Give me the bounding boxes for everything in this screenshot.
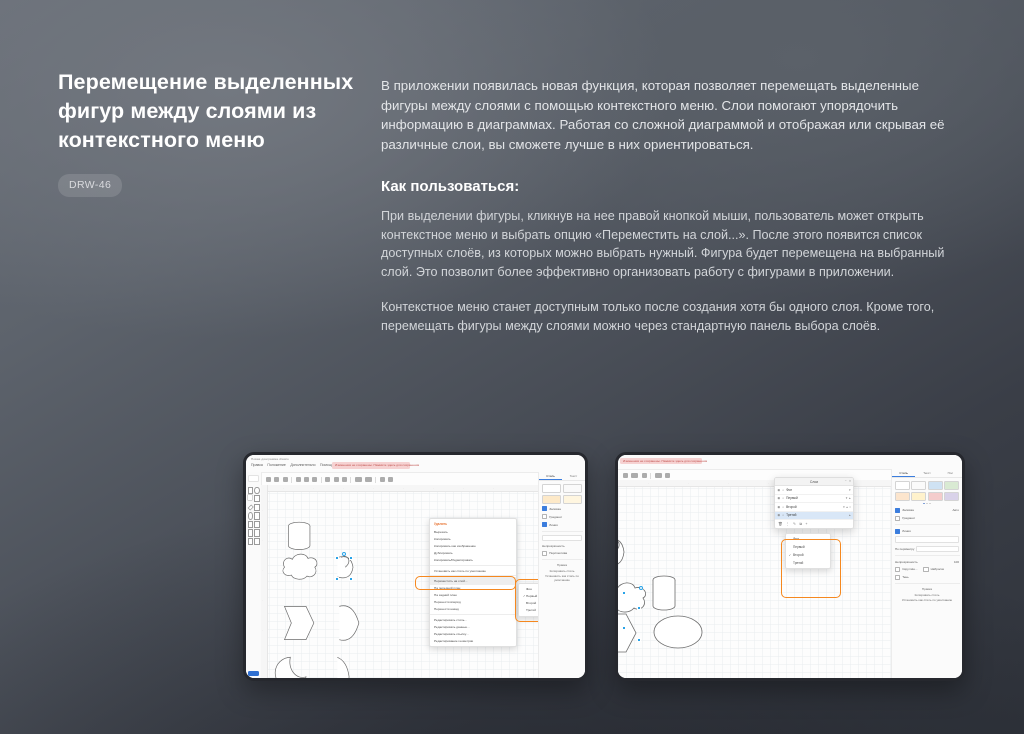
toolbar-divider-3 [350, 477, 351, 483]
line-checkbox[interactable] [542, 522, 547, 527]
context-menu-item[interactable]: Копировать как изображение [430, 542, 516, 549]
perspective-checkbox[interactable] [542, 551, 547, 556]
menu-item-dopolnitelno[interactable]: Дополнительно [290, 463, 315, 467]
context-menu-item[interactable]: Дублировать [430, 549, 516, 556]
context-menu-item[interactable]: На задний план [430, 592, 516, 599]
back-icon[interactable] [623, 473, 628, 478]
tab-style[interactable]: Стиль [892, 469, 915, 477]
page-root: Перемещение выделенных фигур между слоям… [0, 0, 1024, 734]
panel-divider [542, 531, 583, 532]
right-rounded-row[interactable]: Скруглён... Набросок [892, 565, 962, 573]
shape-list[interactable] [246, 485, 261, 547]
dropdown-item[interactable]: Первый [786, 543, 830, 551]
zoom-out-icon[interactable] [266, 477, 271, 482]
chevron-down-icon-2[interactable] [665, 473, 670, 478]
line-label: Линия [549, 523, 558, 527]
right-line-style-row[interactable] [892, 535, 962, 544]
panel-divider [895, 524, 960, 525]
dropdown-item-checked[interactable]: ✓Второй [786, 551, 830, 559]
swatch-6[interactable] [928, 492, 943, 501]
selection-handle[interactable] [622, 626, 626, 630]
line-style-field[interactable] [895, 536, 959, 542]
shape-ellipse[interactable] [254, 487, 259, 494]
fill-color-icon[interactable] [325, 477, 330, 482]
context-menu-item[interactable]: Установить как стиль по умолчанию [430, 567, 516, 574]
perimeter-field[interactable] [916, 546, 959, 552]
grid-icon[interactable] [655, 473, 662, 478]
context-menu-item[interactable]: Редактировать стиль... [430, 616, 516, 623]
waypoints-icon[interactable] [365, 477, 372, 482]
left-fill-row[interactable]: Заливка [539, 505, 585, 513]
lock-icon[interactable]: ⌂ [782, 505, 784, 509]
table-icon[interactable] [388, 477, 393, 482]
swatch-3[interactable] [944, 481, 959, 490]
sketch-checkbox[interactable] [923, 567, 928, 572]
right-line-row[interactable]: Линия [892, 527, 962, 535]
left-line-row[interactable]: Линия [539, 521, 585, 529]
layer-row[interactable]: ◉ ⌂ Фон ▾ [775, 486, 853, 495]
context-menu-item[interactable]: На передний план [430, 585, 516, 592]
layer-name: Фон [786, 488, 847, 492]
selection-handle[interactable] [637, 606, 641, 610]
dropdown-check-icon: ✓ [789, 553, 792, 557]
howto-paragraph-1: При выделении фигуры, кликнув на нее пра… [381, 207, 967, 281]
tab-position[interactable]: Пол [939, 469, 962, 477]
fill-checkbox[interactable] [895, 508, 900, 513]
screenshot-card-left[interactable]: Новая диаграмма.drawio Правка Положение … [243, 452, 588, 681]
right-color-swatches[interactable] [892, 478, 962, 502]
set-default-style-button[interactable]: Установить как стиль по умолчанию [539, 574, 585, 584]
fill-label: Заливка [549, 507, 561, 511]
tab-style[interactable]: Стиль [539, 472, 562, 480]
layer-row-actions[interactable]: ▴ [849, 513, 851, 517]
context-menu-separator [430, 614, 516, 615]
gradient-checkbox[interactable] [542, 514, 547, 519]
pager-dot[interactable] [926, 503, 928, 505]
line-style-field[interactable] [542, 535, 582, 541]
fill-label: Заливка [902, 508, 914, 512]
fill-value: Авто [952, 508, 959, 512]
swatch-orange[interactable] [542, 495, 561, 504]
right-gradient-row[interactable]: Градиент [892, 514, 962, 522]
shape-triangle[interactable] [248, 495, 252, 500]
gradient-label: Градиент [549, 515, 562, 519]
shadow-icon[interactable] [342, 477, 347, 482]
context-menu-item[interactable]: Перенести вперёд [430, 599, 516, 606]
right-perimeter-row[interactable]: По периметру [892, 544, 962, 553]
shape-square[interactable] [254, 495, 259, 502]
screenshot-right-inner: Изменения не сохранены. Нажмите здесь дл… [618, 455, 962, 678]
shape-process[interactable] [254, 504, 259, 511]
to-front-icon[interactable] [304, 477, 309, 482]
delete-icon[interactable] [296, 477, 301, 482]
layer-name: Третий [786, 513, 847, 517]
up-icon[interactable]: ▴ [846, 505, 848, 509]
left-line-style-row[interactable] [539, 534, 585, 543]
context-menu-item[interactable]: Редактировать ссылку... [430, 631, 516, 638]
set-default-style-button[interactable]: Установить как стиль по умолчанию [892, 597, 962, 603]
lock-icon[interactable]: ⌂ [782, 488, 784, 492]
layers-panel-header: Слои − × [775, 478, 853, 486]
screenshot-gallery: Новая диаграмма.drawio Правка Положение … [0, 452, 1024, 684]
insert-icon[interactable] [380, 477, 385, 482]
toolbar-divider-4 [375, 477, 376, 483]
layers-panel-title: Слои [810, 480, 818, 484]
selection-handle[interactable] [349, 577, 353, 581]
left-color-swatches[interactable] [539, 481, 585, 505]
delete-layer-icon[interactable]: 🗑 [778, 522, 783, 526]
up-icon[interactable]: ▴ [849, 513, 851, 517]
selection-handle[interactable] [335, 556, 339, 560]
right-style-panel[interactable]: Стиль Текст Пол [891, 469, 962, 678]
undo-icon[interactable] [283, 477, 288, 482]
context-menu-separator [430, 565, 516, 566]
layer-row[interactable]: ◉ ⌂ Второй ▾▴• [775, 503, 853, 512]
left-shape-palette[interactable] [246, 472, 262, 678]
left-style-tabs[interactable]: Стиль Текст [539, 472, 585, 481]
dropdown-item[interactable]: Третий [786, 559, 830, 567]
screenshot-left-inner: Новая диаграмма.drawio Правка Положение … [246, 455, 585, 678]
rounded-label: Скруглён... [902, 567, 917, 571]
panel-divider-2 [895, 555, 960, 556]
right-fill-row[interactable]: Заливка Авто [892, 506, 962, 514]
content-column: В приложении появилась новая функция, ко… [381, 76, 967, 336]
left-app-title: Новая диаграмма.drawio [251, 457, 289, 461]
eye-icon[interactable]: ◉ [777, 496, 780, 500]
tab-text[interactable]: Текст [562, 472, 585, 480]
eye-icon[interactable]: ◉ [777, 505, 780, 509]
move-icon[interactable]: ▾ [849, 488, 851, 492]
shape-step[interactable] [254, 529, 259, 536]
swatch-light[interactable] [563, 484, 582, 493]
right-shadow-row[interactable]: Тень [892, 573, 962, 581]
right-opacity-row[interactable]: Непрозрачность 100 [892, 558, 962, 565]
left-gradient-row[interactable]: Градиент [539, 513, 585, 521]
to-back-icon[interactable] [312, 477, 317, 482]
line-label: Линия [902, 529, 911, 533]
selection-handle[interactable] [637, 638, 641, 642]
layer-row-actions[interactable]: ▾▴• [843, 505, 851, 509]
issue-badge: DRW-46 [58, 174, 122, 197]
swatch-1[interactable] [911, 481, 926, 490]
rounded-checkbox[interactable] [895, 567, 900, 572]
lock-icon[interactable]: ⌂ [782, 513, 784, 517]
howto-paragraph-2: Контекстное меню станет доступным только… [381, 298, 967, 335]
layer-name: Второй [786, 505, 841, 509]
connection-style-icon[interactable] [355, 477, 362, 482]
gradient-checkbox[interactable] [895, 516, 900, 521]
shadow-label: Тень [902, 575, 909, 579]
layers-panel-controls[interactable]: − × [845, 479, 851, 483]
shape-search-input[interactable] [248, 475, 259, 482]
context-menu-separator [430, 575, 516, 576]
left-warning-text: Изменения не сохранены. Нажмите здесь дл… [335, 463, 419, 467]
layer-row-actions[interactable]: ▾▴ [846, 496, 851, 500]
layer-row-actions[interactable]: ▾ [849, 488, 851, 492]
opacity-label: Непрозрачность [895, 560, 918, 564]
shape-line[interactable] [248, 538, 253, 545]
header-column: Перемещение выделенных фигур между слоям… [58, 68, 358, 197]
menu-item-pravka[interactable]: Правка [251, 463, 263, 467]
screenshot-card-right[interactable]: Изменения не сохранены. Нажмите здесь дл… [615, 452, 965, 681]
eye-icon[interactable]: ◉ [777, 513, 780, 517]
perspective-label: Перспектива [549, 551, 567, 555]
opacity-value: 100 [954, 560, 959, 564]
pager-dot-active[interactable] [923, 503, 925, 505]
context-menu-item[interactable]: Копировать [430, 535, 516, 542]
swatch-7[interactable] [944, 492, 959, 501]
context-menu-item[interactable]: Редактирование геометрии [430, 638, 516, 645]
panel-divider-2 [542, 559, 583, 560]
add-shape-icon[interactable] [631, 473, 638, 478]
shape-actor[interactable] [248, 521, 253, 528]
context-menu-item[interactable]: Редактировать данные... [430, 623, 516, 630]
left-app-bar: Новая диаграмма.drawio Правка Положение … [246, 455, 585, 473]
pager-dot[interactable] [929, 503, 931, 505]
right-unsaved-warning[interactable]: Изменения не сохранены. Нажмите здесь дл… [620, 458, 702, 464]
add-layer-icon[interactable]: + [805, 522, 807, 526]
move-icon[interactable]: ▾ [843, 505, 845, 509]
line-color-icon[interactable] [334, 477, 339, 482]
context-menu-item[interactable]: Копировать/Редактировать [430, 557, 516, 564]
dropdown-item[interactable]: Фон [786, 535, 830, 543]
selection-handle[interactable] [349, 556, 353, 560]
intro-paragraph: В приложении появилась новая функция, ко… [381, 76, 967, 154]
chevron-down-icon[interactable] [642, 473, 647, 478]
eye-icon[interactable]: ◉ [777, 488, 780, 492]
move-icon[interactable]: ▾ [846, 496, 848, 500]
fill-checkbox[interactable] [542, 506, 547, 511]
layer-row-active[interactable]: ◉ ⌂ Третий ▴ [775, 512, 853, 521]
right-app-bar: Изменения не сохранены. Нажмите здесь дл… [618, 455, 962, 470]
shape-arrow[interactable] [254, 538, 259, 545]
left-unsaved-warning[interactable]: Изменения не сохранены. Нажмите здесь дл… [332, 462, 410, 468]
opacity-label: Непрозрачность [542, 544, 565, 548]
toolbar-divider [291, 477, 292, 483]
context-menu-item-move-to-layer[interactable]: Переместить на слой... [430, 577, 516, 584]
toolbar-divider [650, 473, 651, 479]
more-shapes-button[interactable] [248, 671, 259, 676]
minimize-icon[interactable]: − [845, 479, 847, 483]
context-menu-item[interactable]: Вырезать [430, 528, 516, 535]
selection-handle[interactable] [335, 577, 339, 581]
left-perspective-row[interactable]: Перспектива [539, 549, 585, 557]
swatch-white[interactable] [542, 484, 561, 493]
left-style-panel[interactable]: Стиль Текст Заливка Градиент Линия Непро… [538, 472, 585, 678]
line-checkbox[interactable] [895, 529, 900, 534]
sketch-label: Набросок [931, 567, 944, 571]
up-icon[interactable]: ▴ [849, 496, 851, 500]
perimeter-label: По периметру [895, 547, 914, 551]
layer-move-dropdown[interactable]: Фон Первый ✓Второй Третий [785, 533, 831, 569]
layer-row[interactable]: ◉ ⌂ Первый ▾▴ [775, 495, 853, 504]
edit-layer-icon[interactable]: ✎ [793, 522, 796, 526]
context-menu-item[interactable]: Перенести назад [430, 606, 516, 613]
shadow-checkbox[interactable] [895, 575, 900, 580]
left-context-menu[interactable]: Удалить Вырезать Копировать Копировать к… [429, 518, 517, 647]
shape-circle[interactable] [248, 512, 253, 519]
shape-container[interactable] [254, 521, 259, 528]
swatch-0[interactable] [895, 481, 910, 490]
panel-divider-3 [895, 583, 960, 584]
toolbar-divider-2 [321, 477, 322, 483]
left-opacity-row[interactable]: Непрозрачность [539, 543, 585, 550]
lock-icon[interactable]: ⌂ [782, 496, 784, 500]
shape-rectangle[interactable] [248, 487, 253, 494]
shape-cube[interactable] [248, 529, 253, 536]
context-menu-title: Удалить [430, 521, 516, 529]
layer-name: Первый [786, 496, 844, 500]
shape-diamond[interactable] [247, 504, 254, 511]
swatch-4[interactable] [895, 492, 910, 501]
dot-icon[interactable]: • [849, 505, 850, 509]
right-style-tabs[interactable]: Стиль Текст Пол [892, 469, 962, 478]
swatch-2[interactable] [928, 481, 943, 490]
swatch-5[interactable] [911, 492, 926, 501]
right-warning-text: Изменения не сохранены. Нажмите здесь дл… [623, 459, 707, 463]
tab-text[interactable]: Текст [915, 469, 938, 477]
gradient-label: Градиент [902, 516, 915, 520]
swatch-cream[interactable] [563, 495, 582, 504]
menu-item-polozhenie[interactable]: Положение [267, 463, 286, 467]
left-menu-bar[interactable]: Правка Положение Дополнительно Помощь [251, 463, 334, 467]
page-title: Перемещение выделенных фигур между слоям… [58, 68, 358, 155]
howto-heading: Как пользоваться: [381, 178, 967, 195]
layers-panel[interactable]: Слои − × ◉ ⌂ Фон ▾ ◉ ⌂ [774, 477, 854, 529]
layers-toolbar[interactable]: 🗑 ⋮ ✎ ⧉ + [775, 520, 853, 528]
more-options-icon[interactable]: ⋮ [786, 522, 790, 526]
zoom-in-icon[interactable] [274, 477, 279, 482]
shape-note[interactable] [254, 512, 259, 519]
selection-handle[interactable] [622, 591, 626, 595]
duplicate-layer-icon[interactable]: ⧉ [799, 522, 802, 526]
close-icon[interactable]: × [849, 479, 851, 483]
